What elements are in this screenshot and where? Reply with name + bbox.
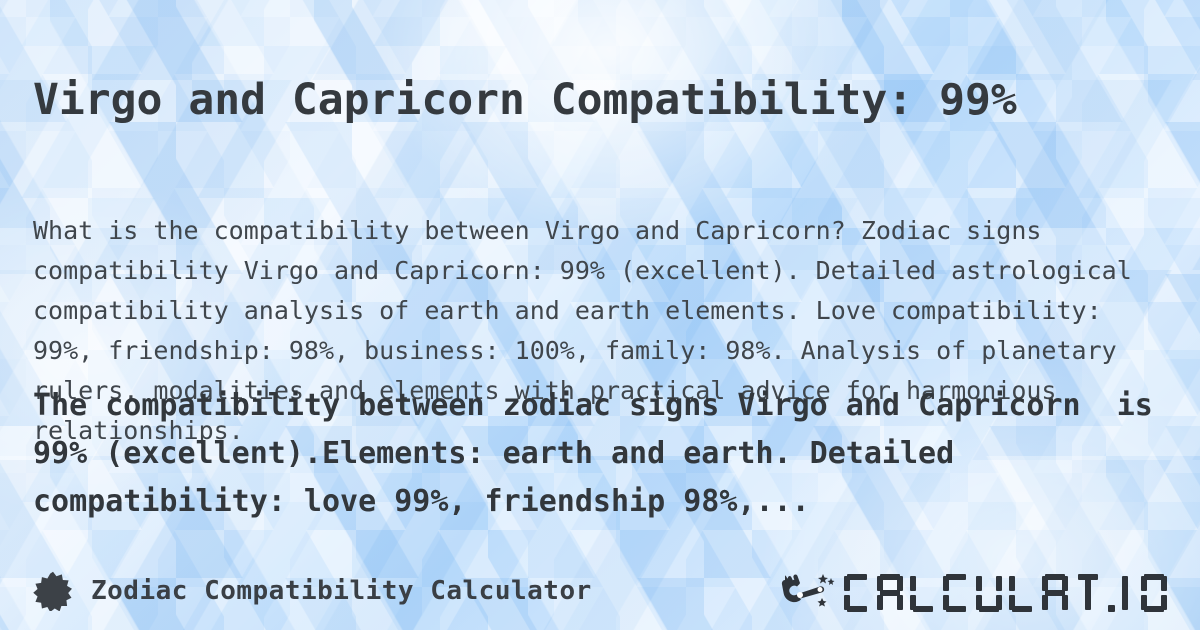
- logo-letter-l1: [910, 574, 936, 612]
- calculatio-logo[interactable]: [780, 570, 1167, 612]
- logo-letter-t: [1075, 574, 1101, 612]
- logo-letter-a1: [877, 574, 903, 612]
- brand-name-label: Zodiac Compatibility Calculator: [91, 576, 592, 606]
- logo-letter-l2: [1009, 574, 1035, 612]
- logo-dot: [1108, 605, 1115, 612]
- logo-letter-c1: [844, 574, 870, 612]
- share-card: Virgo and Capricorn Compatibility: 99% W…: [0, 0, 1200, 630]
- magic-wand-hand-icon: [780, 571, 838, 611]
- logo-letter-i: [1122, 574, 1134, 612]
- logo-letter-c2: [943, 574, 969, 612]
- calculatio-wordmark: [844, 570, 1167, 612]
- page-title: Virgo and Capricorn Compatibility: 99%: [33, 73, 1113, 127]
- logo-letter-u: [976, 574, 1002, 612]
- burst-star-icon: [33, 571, 73, 611]
- logo-letter-a2: [1042, 574, 1068, 612]
- brand-block: Zodiac Compatibility Calculator: [33, 571, 592, 611]
- logo-letter-o: [1141, 574, 1167, 612]
- compatibility-summary: The compatibility between zodiac signs V…: [33, 382, 1158, 526]
- card-footer: Zodiac Compatibility Calculator: [0, 552, 1200, 630]
